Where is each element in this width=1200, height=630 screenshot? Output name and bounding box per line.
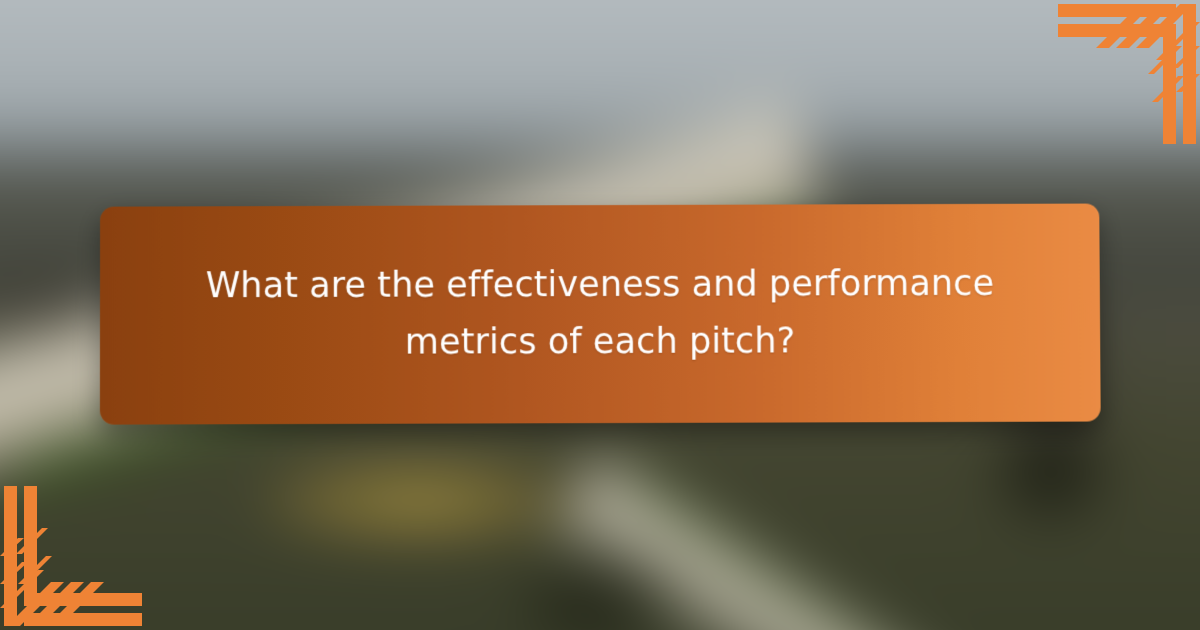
screenshot-stage: What are the effectiveness and performan… (0, 0, 1200, 630)
background-sand-patch (264, 458, 572, 543)
page-title: What are the effectiveness and performan… (130, 256, 1070, 372)
background-bush-right (992, 426, 1109, 521)
headline-card: What are the effectiveness and performan… (100, 204, 1101, 425)
